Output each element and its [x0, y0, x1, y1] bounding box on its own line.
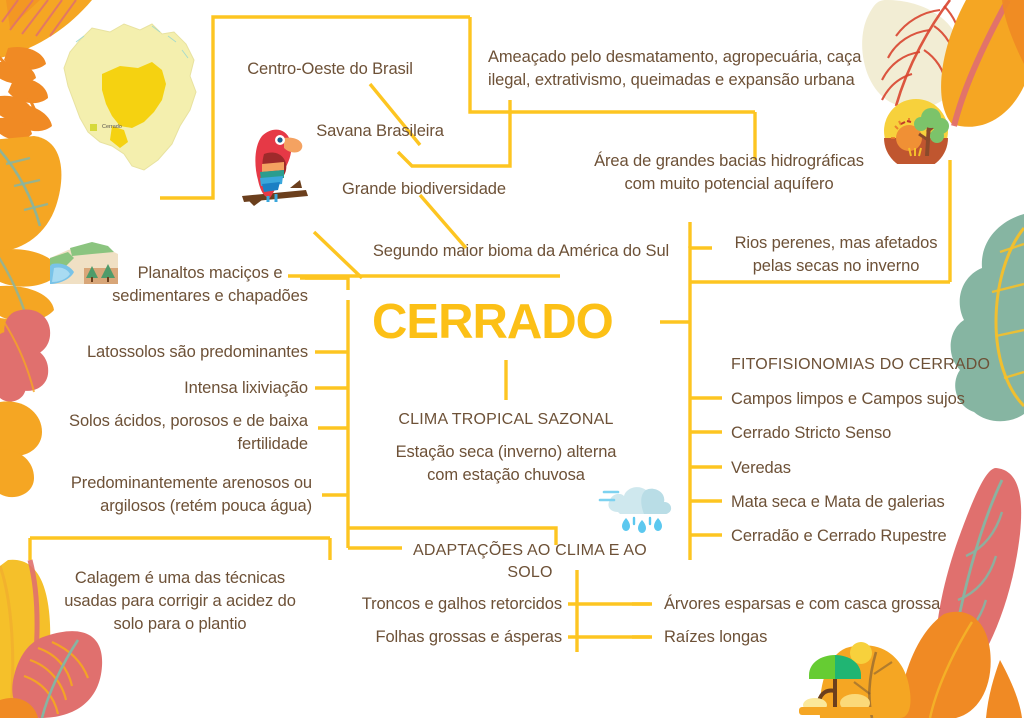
fito-item-veredas: Veredas [731, 457, 1011, 480]
node-bacias-hidrograficas: Área de grandes bacias hidrográficas com… [578, 150, 880, 196]
node-grande-biodiversidade: Grande biodiversidade [318, 178, 530, 201]
fito-item-campos: Campos limpos e Campos sujos [731, 388, 1011, 411]
node-rios-line1: Rios perenes, mas afetados [722, 232, 950, 255]
node-ameacado: Ameaçado pelo desmatamento, agropecuária… [488, 46, 892, 92]
node-clima-heading: CLIMA TROPICAL SAZONAL [386, 409, 626, 431]
node-planaltos-line2: sedimentares e chapadões [110, 285, 310, 308]
node-calagem: Calagem é uma das técnicas usadas para c… [46, 567, 314, 635]
node-fitofisionomias-heading: FITOFISIONOMIAS DO CERRADO [731, 354, 1011, 376]
fito-item-cerradao: Cerradão e Cerrado Rupestre [731, 525, 1011, 548]
node-bacias-line2: com muito potencial aquífero [578, 173, 880, 196]
page-title: CERRADO [372, 298, 662, 347]
sunrise-tree-circle-icon [883, 98, 949, 164]
node-adaptacoes-heading: ADAPTAÇÕES AO CLIMA E AO SOLO [390, 540, 670, 584]
fito-item-stricto-senso: Cerrado Stricto Senso [731, 422, 1011, 445]
node-calagem-line2: usadas para corrigir a acidez do [46, 590, 314, 613]
node-arenosos: Predominantemente arenosos ou argilosos … [28, 472, 312, 518]
node-arenosos-line2: argilosos (retém pouca água) [28, 495, 312, 518]
node-latossolos: Latossolos são predominantes [36, 341, 308, 364]
node-clima-line1: Estação seca (inverno) alterna [378, 441, 634, 464]
adapt-item-folhas: Folhas grossas e ásperas [300, 626, 562, 649]
map-legend-label: Cerrado [102, 124, 122, 130]
adapt-item-raizes: Raízes longas [664, 626, 984, 649]
brazil-map-illustration: Cerrado [40, 14, 210, 192]
node-ameacado-line1: Ameaçado pelo desmatamento, agropecuária… [488, 46, 892, 69]
node-rios-perenes: Rios perenes, mas afetados pelas secas n… [722, 232, 950, 278]
node-planaltos: Planaltos maciços e sedimentares e chapa… [110, 262, 310, 308]
rain-cloud-icon [596, 482, 680, 538]
node-ameacado-line2: ilegal, extrativismo, queimadas e expans… [488, 69, 892, 92]
node-arenosos-line1: Predominantemente arenosos ou [28, 472, 312, 495]
node-bacias-line1: Área de grandes bacias hidrográficas [578, 150, 880, 173]
node-segundo-maior-bioma: Segundo maior bioma da América do Sul [356, 240, 686, 263]
adapt-item-arvores: Árvores esparsas e com casca grossa [664, 593, 984, 616]
node-savana-brasileira: Savana Brasileira [290, 120, 470, 143]
node-solos-acidos-line2: fertilidade [36, 433, 308, 456]
adapt-item-troncos: Troncos e galhos retorcidos [300, 593, 562, 616]
node-calagem-line1: Calagem é uma das técnicas [46, 567, 314, 590]
node-lixiviacao: Intensa lixiviação [36, 377, 308, 400]
node-clima-line2: com estação chuvosa [378, 464, 634, 487]
node-rios-line2: pelas secas no inverno [722, 255, 950, 278]
fito-item-mata-seca: Mata seca e Mata de galerias [731, 491, 1011, 514]
node-centro-oeste: Centro-Oeste do Brasil [222, 58, 438, 81]
node-solos-acidos-line1: Solos ácidos, porosos e de baixa [36, 410, 308, 433]
savanna-tree-icon [793, 639, 883, 718]
node-solos-acidos: Solos ácidos, porosos e de baixa fertili… [36, 410, 308, 456]
node-calagem-line3: solo para o plantio [46, 613, 314, 636]
infographic-canvas: Cerrado [0, 0, 1024, 718]
node-clima-desc: Estação seca (inverno) alterna com estaç… [378, 441, 634, 487]
node-planaltos-line1: Planaltos maciços e [110, 262, 310, 285]
